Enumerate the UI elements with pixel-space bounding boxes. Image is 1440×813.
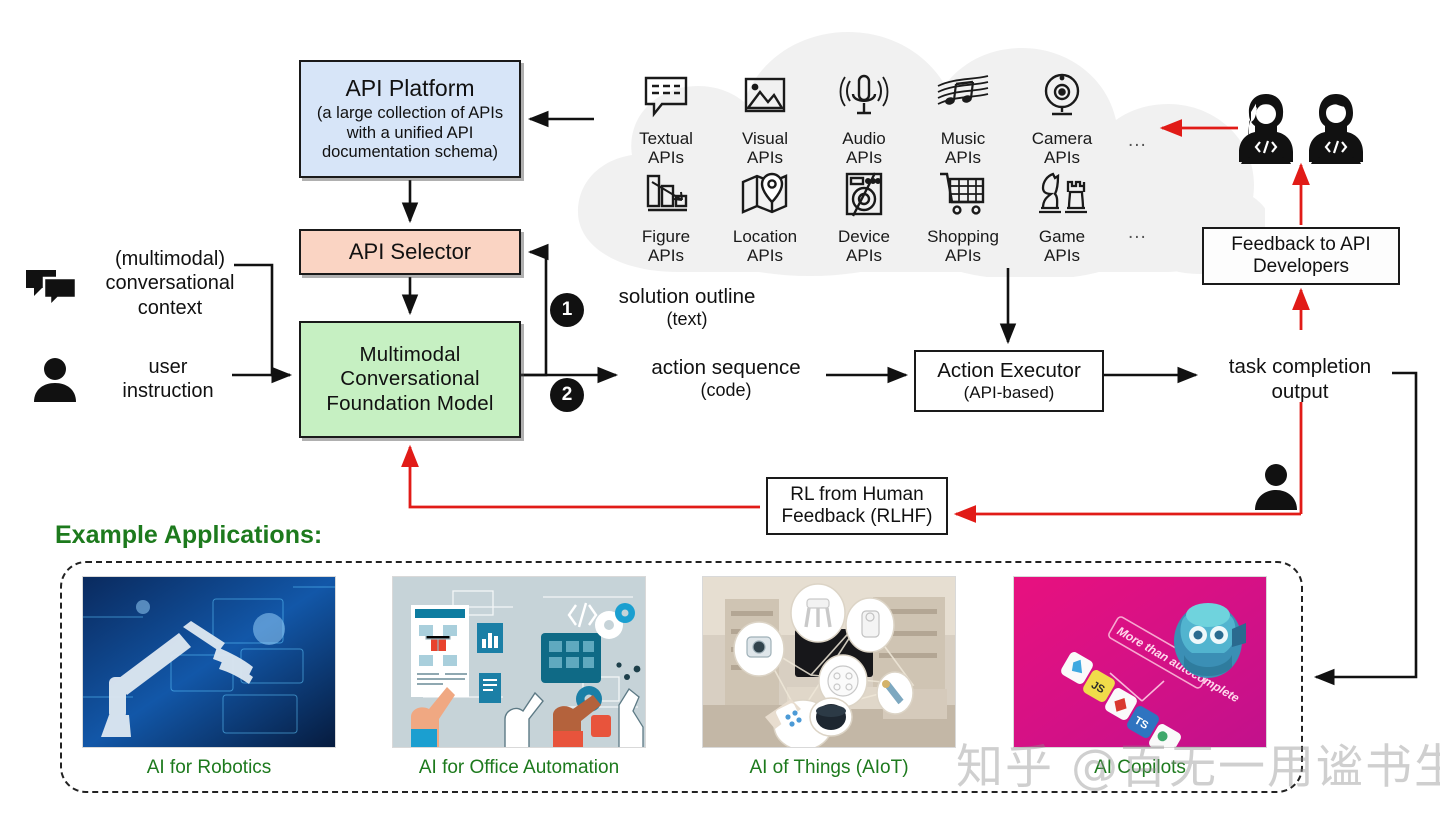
example-applications-heading: Example Applications: xyxy=(55,521,322,550)
example-app-caption: AI of Things (AIoT) xyxy=(702,757,956,779)
api-platform-subtitle-2: with a unified API xyxy=(347,124,474,143)
shopping-api-icon xyxy=(911,168,1015,224)
action-executor-box[interactable]: Action Executor (API-based) xyxy=(914,350,1104,412)
feedback-line-2: Developers xyxy=(1253,256,1349,278)
api-item-suffix: APIs xyxy=(945,148,981,167)
action-executor-subtitle: (API-based) xyxy=(964,383,1055,403)
api-platform-box[interactable]: API Platform (a large collection of APIs… xyxy=(299,60,521,178)
cloud-ellipsis-bottom: ... xyxy=(1128,222,1147,244)
api-item-name: Textual xyxy=(639,129,693,148)
api-icon-grid: Textual APIs Visual APIs xyxy=(560,22,1265,277)
robot-arm-photo xyxy=(82,576,336,748)
audio-api-icon xyxy=(812,70,916,126)
api-item-name: Location xyxy=(733,227,797,246)
example-app-aiot[interactable]: AI of Things (AIoT) xyxy=(702,576,956,779)
rlhf-box[interactable]: RL from Human Feedback (RLHF) xyxy=(766,477,948,535)
api-item-location[interactable]: Location APIs xyxy=(713,168,817,265)
api-cloud: Textual APIs Visual APIs xyxy=(560,22,1265,277)
api-item-suffix: APIs xyxy=(846,246,882,265)
api-item-suffix: APIs xyxy=(1044,148,1080,167)
visual-api-icon xyxy=(713,70,817,126)
feedback-line-1: Feedback to API xyxy=(1231,234,1370,256)
action-line-1: action sequence xyxy=(626,355,826,380)
api-item-suffix: APIs xyxy=(945,246,981,265)
conv-line-1: (multimodal) xyxy=(70,247,270,271)
developer-male-icon xyxy=(1305,92,1367,169)
api-item-textual[interactable]: Textual APIs xyxy=(614,70,718,167)
api-platform-subtitle-1: (a large collection of APIs xyxy=(317,104,503,123)
api-item-name: Music xyxy=(941,129,985,148)
camera-api-icon xyxy=(1010,70,1114,126)
api-item-suffix: APIs xyxy=(648,246,684,265)
api-item-suffix: APIs xyxy=(747,148,783,167)
api-item-figure[interactable]: Figure APIs xyxy=(614,168,718,265)
action-sequence-label: action sequence (code) xyxy=(626,355,826,402)
watermark-text: 知乎 @百无一用谧书生 xyxy=(956,728,1440,797)
figure-api-icon xyxy=(614,168,718,224)
taskout-line-2: output xyxy=(1200,379,1400,404)
solution-line-1: solution outline xyxy=(592,284,782,309)
api-item-name: Visual xyxy=(742,129,788,148)
step-badge-1: 1 xyxy=(550,293,584,327)
api-item-name: Audio xyxy=(842,129,885,148)
human-person-icon xyxy=(1252,462,1300,515)
api-item-name: Camera xyxy=(1032,129,1092,148)
api-item-camera[interactable]: Camera APIs xyxy=(1010,70,1114,167)
user-line-2: instruction xyxy=(78,379,258,403)
rlhf-line-2: Feedback (RLHF) xyxy=(782,506,933,528)
api-item-game[interactable]: Game APIs xyxy=(1010,168,1114,265)
solution-outline-label: solution outline (text) xyxy=(592,284,782,331)
foundation-model-box[interactable]: Multimodal Conversational Foundation Mod… xyxy=(299,321,521,438)
action-executor-title: Action Executor xyxy=(937,359,1081,383)
example-app-caption: AI for Robotics xyxy=(82,757,336,779)
conv-line-3: context xyxy=(70,296,270,320)
solution-line-2: (text) xyxy=(592,309,782,331)
api-item-suffix: APIs xyxy=(648,148,684,167)
taskout-line-1: task completion xyxy=(1200,354,1400,379)
api-item-device[interactable]: Device APIs xyxy=(812,168,916,265)
conv-line-2: conversational xyxy=(70,271,270,295)
music-api-icon xyxy=(911,70,1015,126)
developer-female-icon xyxy=(1235,92,1297,169)
game-api-icon xyxy=(1010,168,1114,224)
user-person-icon xyxy=(31,356,79,407)
api-item-suffix: APIs xyxy=(846,148,882,167)
api-item-suffix: APIs xyxy=(1044,246,1080,265)
api-item-suffix: APIs xyxy=(747,246,783,265)
rlhf-line-1: RL from Human xyxy=(790,484,923,506)
example-app-office[interactable]: AI for Office Automation xyxy=(392,576,646,779)
example-app-robotics[interactable]: AI for Robotics xyxy=(82,576,336,779)
device-api-icon xyxy=(812,168,916,224)
textual-api-icon xyxy=(614,70,718,126)
foundation-model-line-1: Multimodal xyxy=(359,343,460,367)
ai-copilot-graphic: More than autocomplete JS TS xyxy=(1013,576,1267,748)
api-item-name: Device xyxy=(838,227,890,246)
api-platform-subtitle-3: documentation schema) xyxy=(322,143,498,162)
action-line-2: (code) xyxy=(626,380,826,402)
task-completion-output-label: task completion output xyxy=(1200,354,1400,404)
user-instruction-label: user instruction xyxy=(78,355,258,404)
feedback-to-api-developers-box[interactable]: Feedback to API Developers xyxy=(1202,227,1400,285)
location-api-icon xyxy=(713,168,817,224)
api-item-name: Shopping xyxy=(927,227,999,246)
api-item-visual[interactable]: Visual APIs xyxy=(713,70,817,167)
example-app-caption: AI for Office Automation xyxy=(392,757,646,779)
step-badge-2: 2 xyxy=(550,378,584,412)
foundation-model-line-2: Conversational xyxy=(340,367,480,391)
foundation-model-line-3: Foundation Model xyxy=(326,392,493,416)
diagram-canvas: Textual APIs Visual APIs xyxy=(0,0,1440,813)
api-platform-title: API Platform xyxy=(345,75,474,102)
conversational-context-label: (multimodal) conversational context xyxy=(70,247,270,320)
api-selector-box[interactable]: API Selector xyxy=(299,229,521,275)
user-line-1: user xyxy=(78,355,258,379)
cloud-ellipsis-top: ... xyxy=(1128,130,1147,152)
office-automation-illustration xyxy=(392,576,646,748)
api-item-music[interactable]: Music APIs xyxy=(911,70,1015,167)
api-item-name: Game xyxy=(1039,227,1085,246)
api-item-shopping[interactable]: Shopping APIs xyxy=(911,168,1015,265)
smart-home-photo xyxy=(702,576,956,748)
api-item-name: Figure xyxy=(642,227,690,246)
api-item-audio[interactable]: Audio APIs xyxy=(812,70,916,167)
api-selector-title: API Selector xyxy=(349,239,471,265)
